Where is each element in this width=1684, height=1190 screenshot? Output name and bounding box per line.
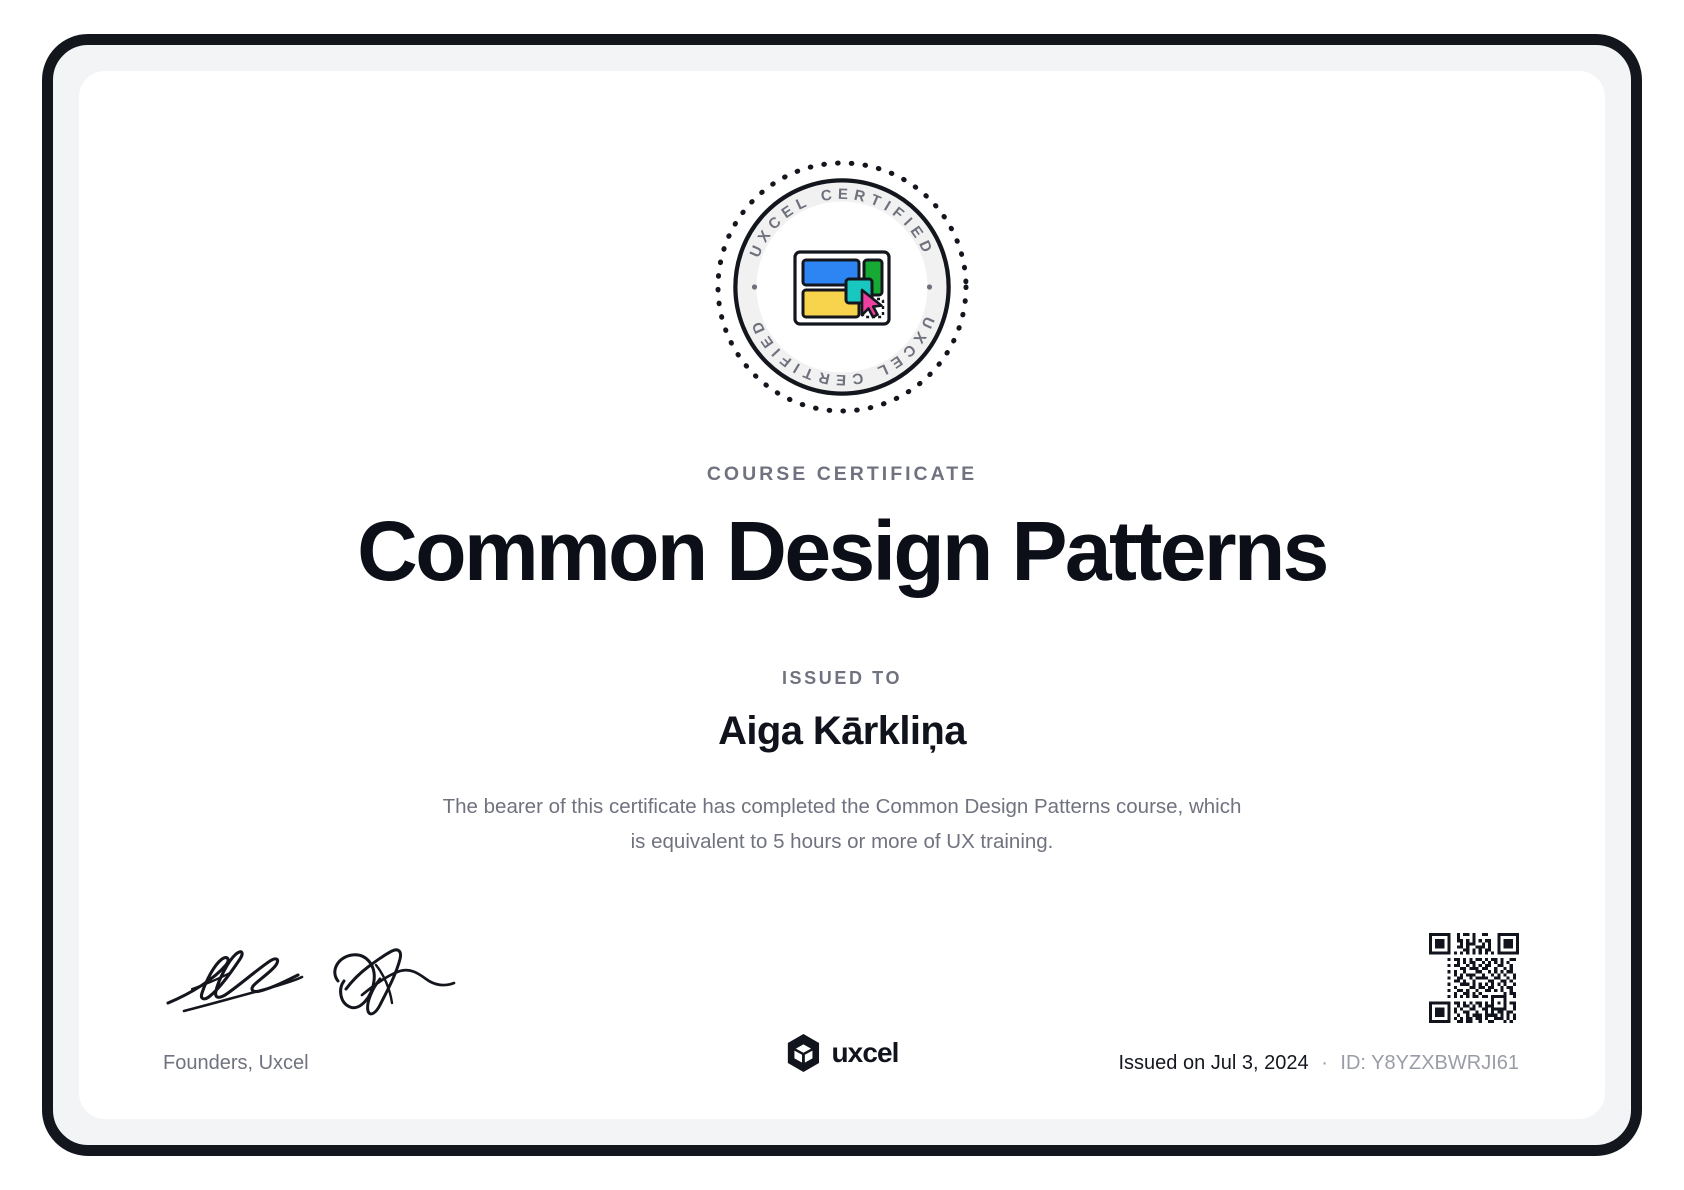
certificate-qr-code — [1429, 933, 1519, 1023]
recipient-name: Aiga Kārkliņa — [79, 709, 1605, 754]
certificate-id: ID: Y8YZXBWRJI61 — [1340, 1052, 1519, 1074]
founder-signatures — [162, 941, 462, 1033]
meta-separator: · — [1314, 1052, 1335, 1074]
design-patterns-layout-icon — [795, 252, 889, 324]
course-title: Common Design Patterns — [79, 503, 1605, 600]
certificate-card: UXCEL CERTIFIED UXCEL CERTIFIED — [79, 71, 1605, 1119]
certificate-frame: UXCEL CERTIFIED UXCEL CERTIFIED — [42, 34, 1642, 1156]
badge-separator-dot-left — [752, 284, 757, 289]
founders-label: Founders, Uxcel — [163, 1052, 309, 1075]
certificate-kicker: COURSE CERTIFICATE — [79, 463, 1605, 486]
issued-date: Issued on Jul 3, 2024 — [1118, 1052, 1308, 1074]
issued-to-label: ISSUED TO — [79, 668, 1605, 689]
certificate-description: The bearer of this certificate has compl… — [442, 789, 1242, 860]
uxcel-brand-logo: uxcel — [785, 1033, 898, 1073]
uxcel-cube-logo — [785, 1033, 821, 1073]
uxcel-wordmark: uxcel — [831, 1037, 898, 1069]
badge-separator-dot-right — [927, 284, 932, 289]
issue-metadata: Issued on Jul 3, 2024 · ID: Y8YZXBWRJI61 — [1118, 1052, 1519, 1075]
uxcel-certified-badge: UXCEL CERTIFIED UXCEL CERTIFIED — [712, 157, 972, 417]
